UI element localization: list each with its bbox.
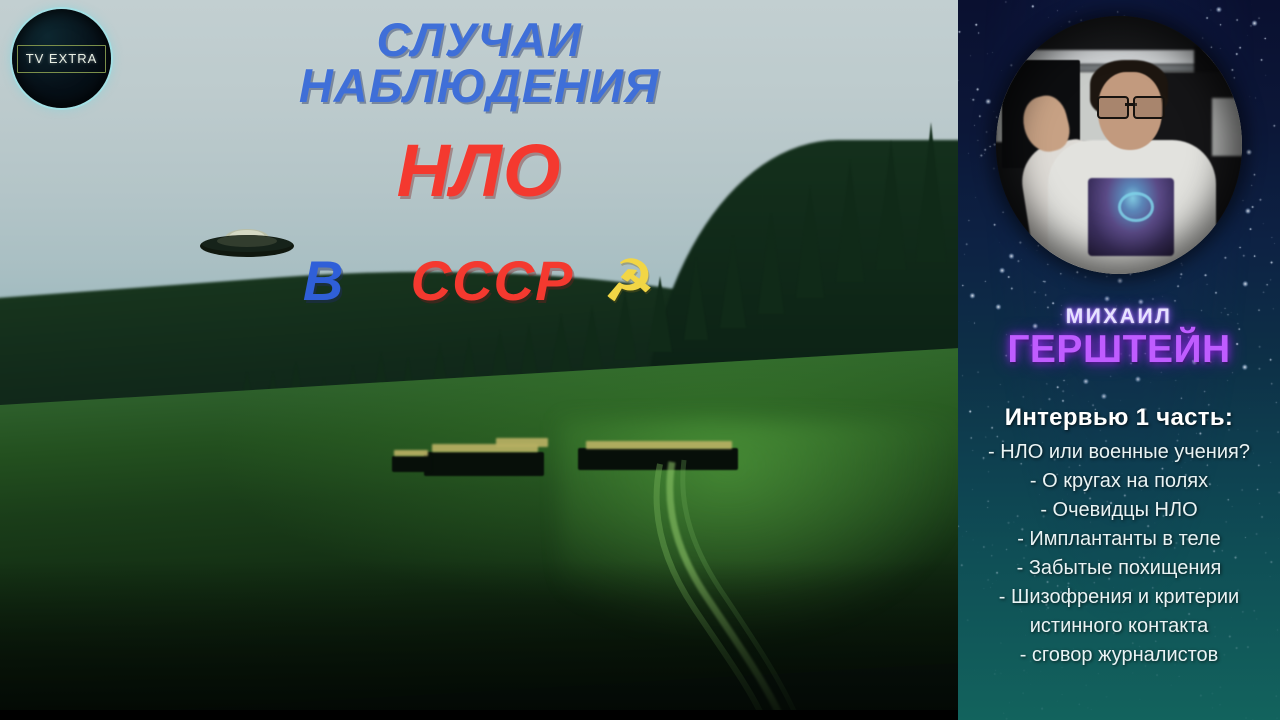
farm-structure-roof <box>586 441 732 449</box>
headline-preposition: В <box>303 249 344 312</box>
topic-item-continuation: истинного контакта <box>958 612 1280 641</box>
topic-item: - Забытые похищения <box>958 554 1280 583</box>
conifer-tree <box>582 306 602 368</box>
topics-list: Интервью 1 часть: - НЛО или военные учен… <box>958 404 1280 670</box>
topic-item: - сговор журналистов <box>958 641 1280 670</box>
topic-item: - НЛО или военные учения? <box>958 438 1280 467</box>
letterbox-bar <box>0 710 958 720</box>
video-thumbnail-canvas: TV EXTRA СЛУЧАИ НАБЛЮДЕНИЯ НЛО В СССР ☭ <box>0 0 1280 720</box>
thumbnail-photo-area: TV EXTRA СЛУЧАИ НАБЛЮДЕНИЯ НЛО В СССР ☭ <box>0 0 958 720</box>
guest-first-name: МИХАИЛ <box>958 306 1280 327</box>
farm-structure <box>392 456 432 472</box>
topics-header: Интервью 1 часть: <box>958 404 1280 432</box>
headline-line-4-ussr: В СССР ☭ <box>0 253 958 309</box>
hammer-and-sickle-icon: ☭ <box>604 249 655 312</box>
headline-ussr: СССР <box>411 249 574 312</box>
farm-structure <box>424 452 544 476</box>
topic-item: - Имплантанты в теле <box>958 525 1280 554</box>
topic-item: - Шизофрения и критерии <box>958 583 1280 612</box>
guest-info-panel: МИХАИЛ ГЕРШТЕЙН Интервью 1 часть: - НЛО … <box>958 0 1280 720</box>
guest-last-name: ГЕРШТЕЙН <box>958 330 1280 369</box>
topic-item: - Очевидцы НЛО <box>958 496 1280 525</box>
guest-avatar <box>996 16 1242 274</box>
conifer-tree <box>550 314 572 378</box>
headline-line-3-ufo: НЛО <box>0 134 958 208</box>
headline-line-1: СЛУЧАИ <box>0 16 958 63</box>
headline-line-2: НАБЛЮДЕНИЯ <box>0 62 958 109</box>
farm-structure-roof <box>496 438 548 447</box>
field-shadow-overlay <box>0 560 958 720</box>
topic-item: - О кругах на полях <box>958 467 1280 496</box>
farm-structure-roof <box>394 450 428 456</box>
avatar-vignette <box>996 16 1242 274</box>
